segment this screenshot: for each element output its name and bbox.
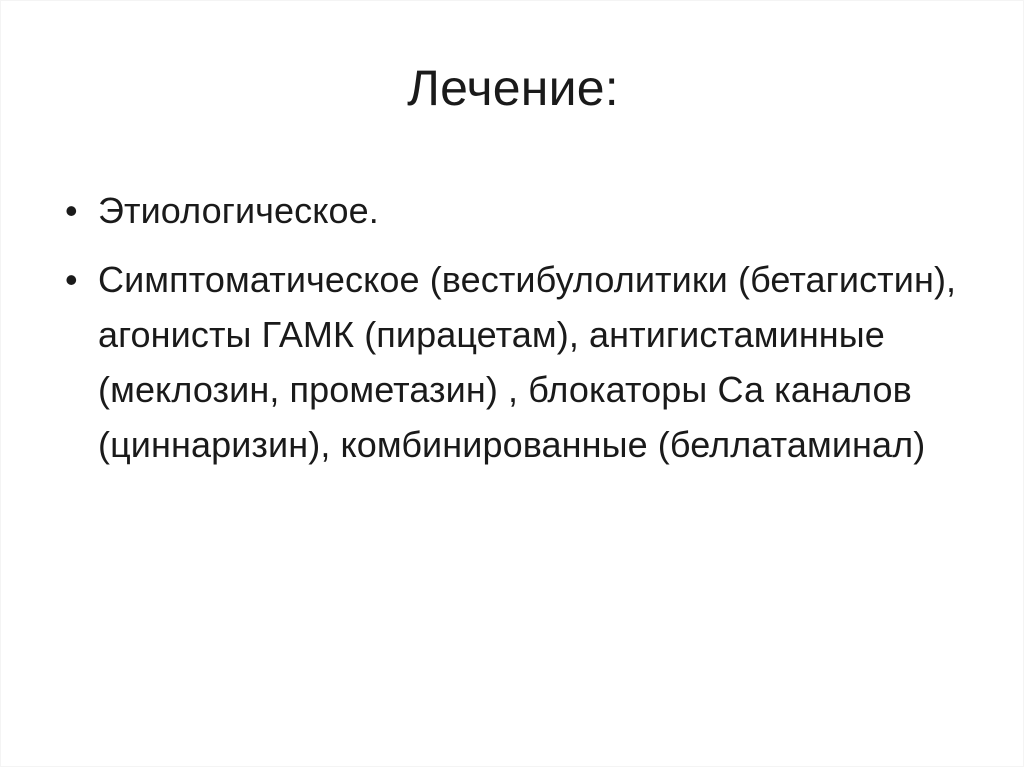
slide-canvas: Лечение: • Этиологическое. • Симптоматич… [0, 0, 1024, 767]
slide-body: • Этиологическое. • Симптоматическое (ве… [53, 183, 983, 472]
list-item-label: Симптоматическое (вестибулолитики (бетаг… [98, 252, 983, 472]
page-title: Лечение: [1, 59, 1024, 118]
bullet-icon: • [65, 252, 87, 307]
list-item-label: Этиологическое. [98, 183, 983, 238]
bullet-icon: • [65, 183, 87, 238]
list-item: • Симптоматическое (вестибулолитики (бет… [53, 252, 983, 472]
list-item: • Этиологическое. [53, 183, 983, 238]
